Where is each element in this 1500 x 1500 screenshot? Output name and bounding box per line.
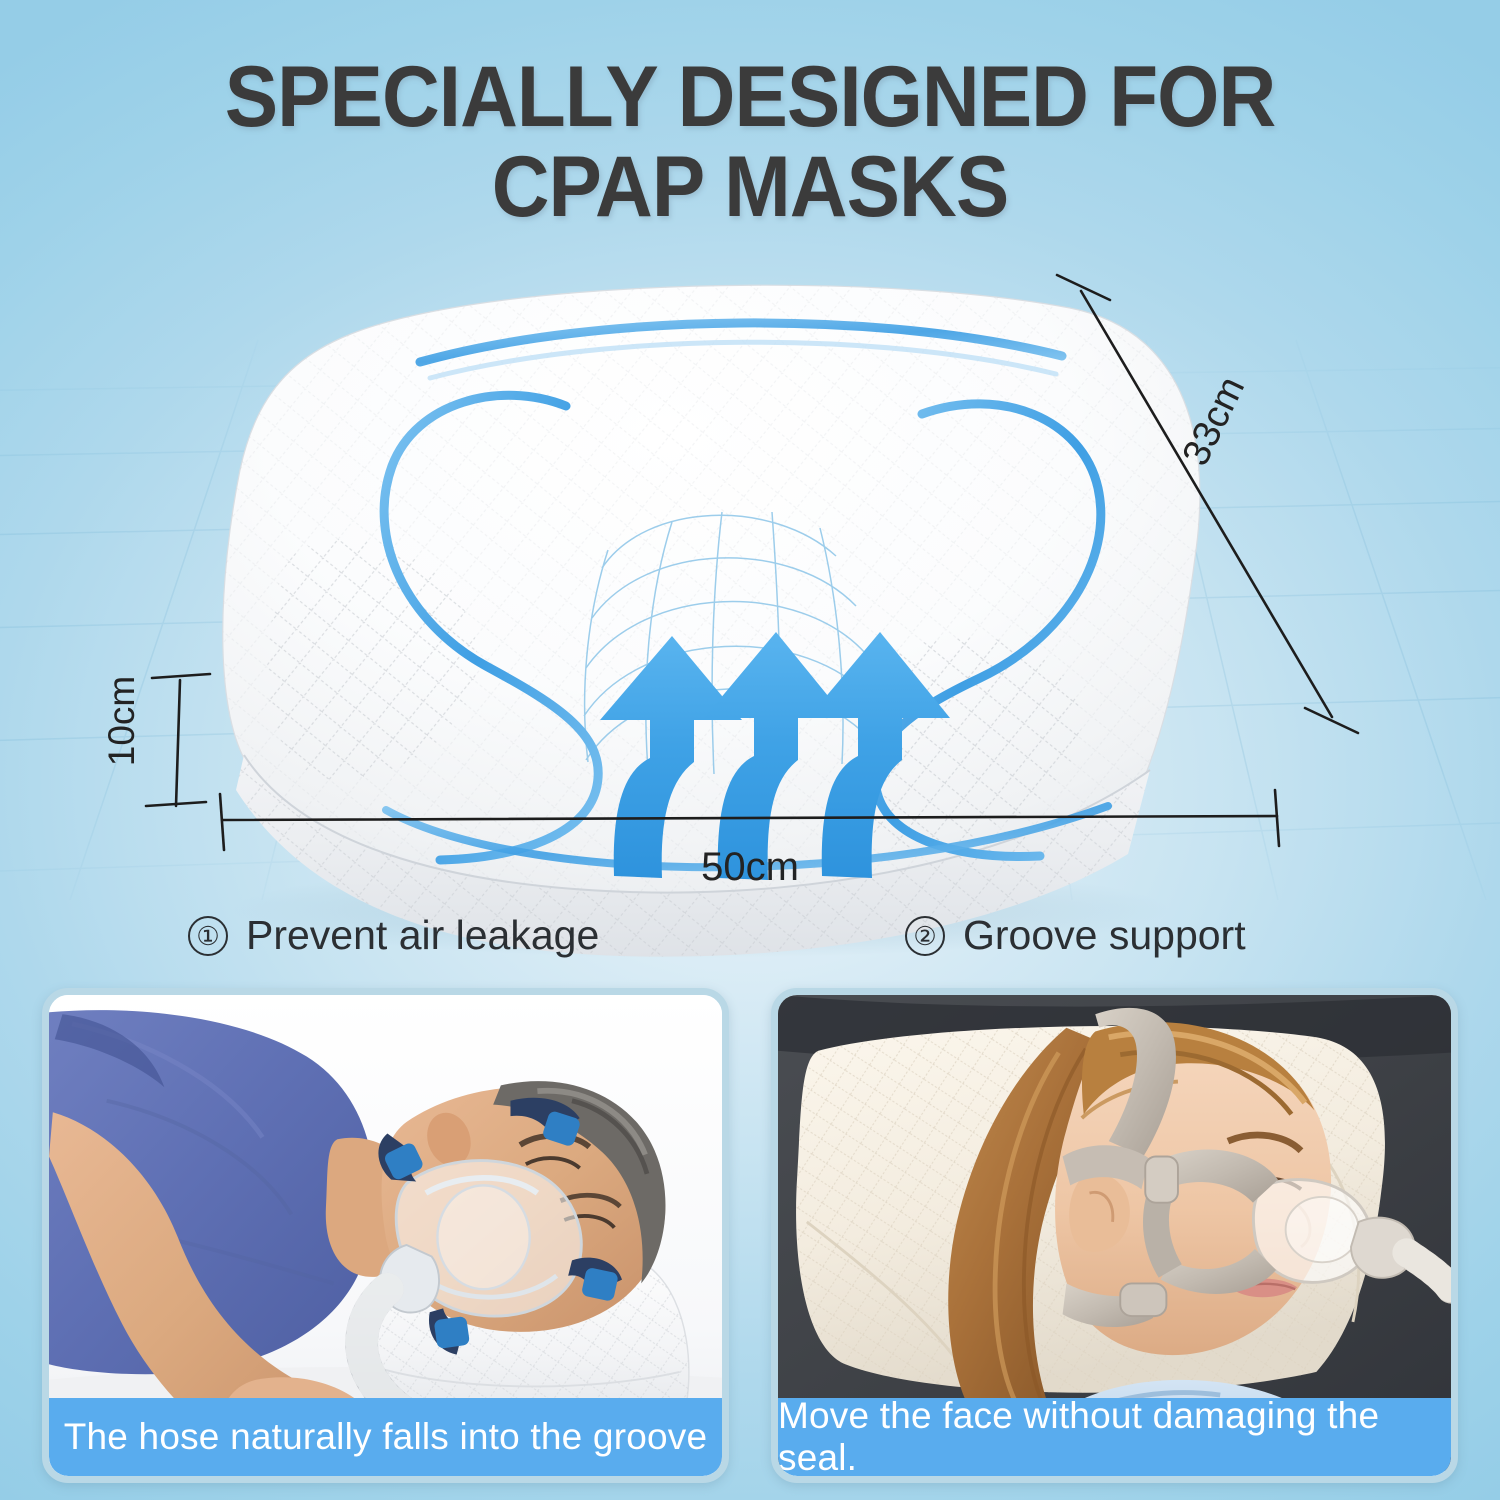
circled-number-1-icon: ①: [188, 916, 228, 956]
page-title: SPECIALLY DESIGNED FOR CPAP MASKS: [53, 52, 1448, 233]
circled-number-2-icon: ②: [905, 916, 945, 956]
card-caption-seal: Move the face without damaging the seal.: [778, 1398, 1451, 1476]
headline-line-2: CPAP MASKS: [53, 142, 1448, 232]
dimension-label-width: 50cm: [0, 845, 1500, 890]
card-caption-hose: The hose naturally falls into the groove: [49, 1398, 722, 1476]
photo-card-row: The hose naturally falls into the groove: [0, 988, 1500, 1488]
feature-item-groove-support: ② Groove support: [783, 912, 1500, 959]
feature-item-prevent-air-leakage: ① Prevent air leakage: [0, 912, 783, 959]
photo-card-seal: Move the face without damaging the seal.: [771, 988, 1458, 1483]
dimension-line-height: [146, 674, 210, 806]
feature-caption-row: ① Prevent air leakage ② Groove support: [0, 912, 1500, 959]
feature-label-2: Groove support: [963, 912, 1246, 959]
photo-card-hose-groove: The hose naturally falls into the groove: [42, 988, 729, 1483]
headline-line-1: SPECIALLY DESIGNED FOR: [225, 49, 1276, 145]
dimension-label-height: 10cm: [101, 676, 143, 766]
product-hero-illustration: [0, 250, 1500, 910]
feature-label-1: Prevent air leakage: [246, 912, 599, 959]
